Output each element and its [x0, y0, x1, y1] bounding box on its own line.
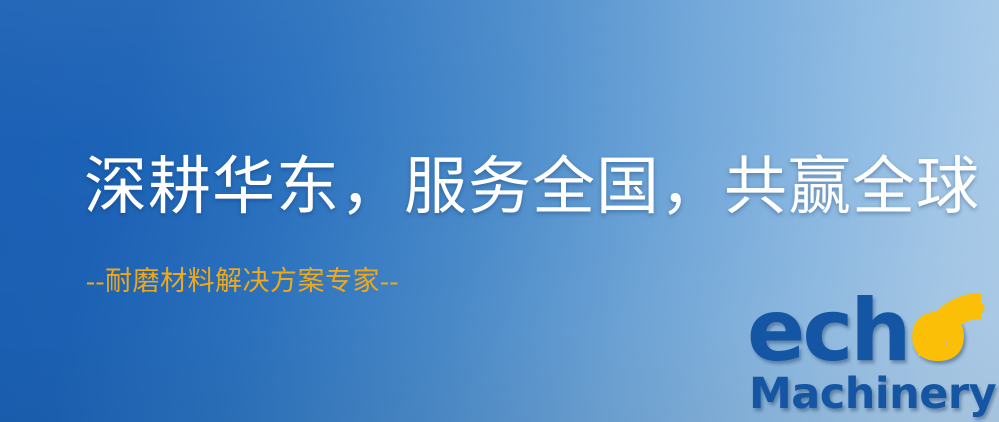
- logo-tagline-text: Machinery: [749, 369, 996, 419]
- banner-headline: 深耕华东，服务全国，共赢全球: [84, 148, 980, 226]
- banner-subtitle: --耐磨材料解决方案专家--: [86, 265, 399, 297]
- signal-waves-arcs-icon: [917, 292, 987, 362]
- promo-banner: 深耕华东，服务全国，共赢全球 --耐磨材料解决方案专家-- echo Machi…: [0, 0, 999, 422]
- logo-tagline: Machinery®: [749, 371, 999, 417]
- echo-machinery-logo: echo Machinery®: [745, 294, 999, 422]
- logo-wordmark-prefix: ech: [747, 281, 909, 381]
